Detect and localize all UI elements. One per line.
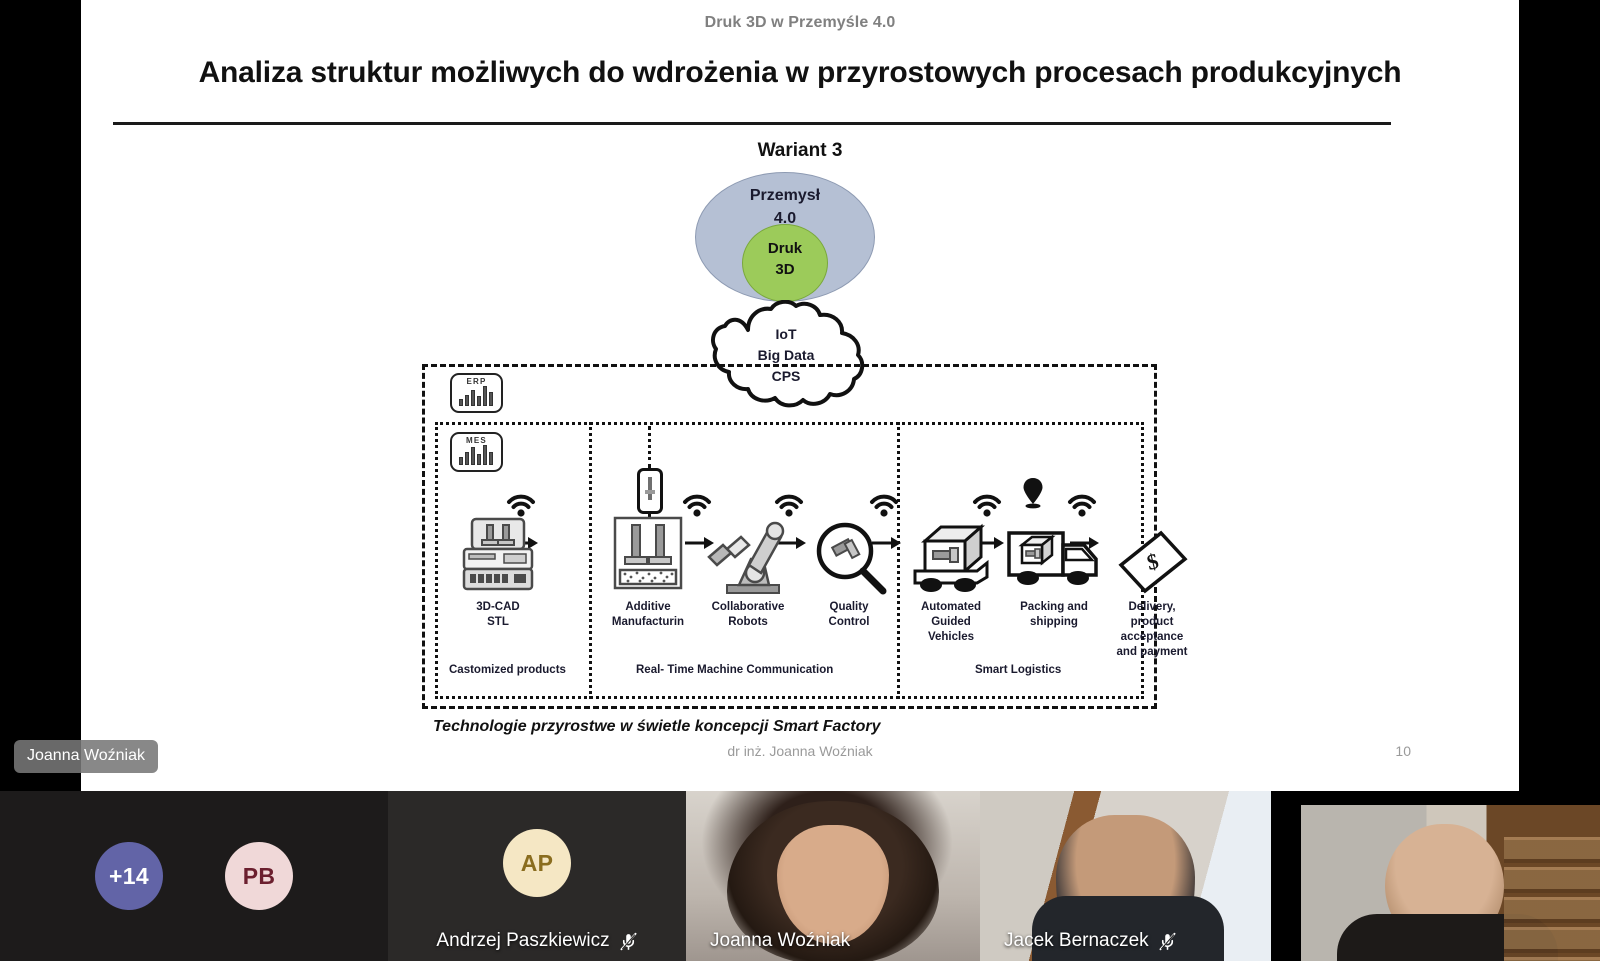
zone-label-customized: Castomized products xyxy=(449,664,566,676)
erp-label: ERP xyxy=(452,377,501,386)
title-divider xyxy=(113,122,1391,125)
participant-name: Andrzej Paszkiewicz xyxy=(436,930,609,952)
node-3d-cad: 3D-CAD STL xyxy=(444,509,552,630)
participant-tile-overflow[interactable]: +14 PB xyxy=(0,791,388,961)
agv-icon xyxy=(897,509,1005,595)
mic-muted-icon xyxy=(619,932,638,951)
node-packing-shipping: Packing and shipping xyxy=(1000,509,1108,630)
money-icon: $ xyxy=(1098,509,1206,595)
location-pin-icon xyxy=(1022,477,1044,509)
avatar-overflow-count[interactable]: +14 xyxy=(95,842,163,910)
avatar-initials: AP xyxy=(521,850,554,877)
bookshelf-background xyxy=(1504,833,1600,961)
participant-filmstrip: +14 PB AP Andrzej Paszkiewicz xyxy=(0,791,1600,961)
magnifier-icon xyxy=(795,509,903,595)
venn-diagram: Przemysł 4.0 Druk 3D xyxy=(695,172,875,302)
shared-content-stage: Druk 3D w Przemyśle 4.0 Analiza struktur… xyxy=(0,0,1600,791)
venn-outer-label: Przemysł 4.0 xyxy=(695,184,875,230)
node-label: Delivery, product acceptance and payment xyxy=(1098,600,1206,660)
node-label: Packing and shipping xyxy=(1000,600,1108,630)
participant-name-row: Andrzej Paszkiewicz xyxy=(388,930,686,952)
phone-uplink-dots xyxy=(648,426,651,468)
smart-factory-diagram: ERP MES xyxy=(422,364,1157,709)
erp-system-icon: ERP xyxy=(450,373,503,413)
node-quality-control: Quality Control xyxy=(795,509,903,630)
meeting-window: Druk 3D w Przemyśle 4.0 Analiza struktur… xyxy=(0,0,1600,961)
slide-header: Druk 3D w Przemyśle 4.0 xyxy=(81,14,1519,32)
node-additive: Additive Manufacturin xyxy=(594,509,702,630)
participant-name-row: Joanna Woźniak xyxy=(686,930,980,952)
participant-tile-andrzej-paszkiewicz[interactable]: AP Andrzej Paszkiewicz xyxy=(388,791,686,961)
presentation-slide[interactable]: Druk 3D w Przemyśle 4.0 Analiza struktur… xyxy=(81,0,1519,791)
avatar-initials: +14 xyxy=(109,863,149,890)
mes-system-icon: MES xyxy=(450,432,503,472)
participant-name-row: Jacek Bernaczek xyxy=(980,930,1271,952)
avatar-initials: PB xyxy=(243,863,276,890)
mic-muted-icon xyxy=(1158,932,1177,951)
mes-label: MES xyxy=(452,436,501,445)
node-delivery-payment: $ Delivery, product acceptance and payme… xyxy=(1098,509,1206,660)
zone-label-rtmc: Real- Time Machine Communication xyxy=(636,664,833,676)
mobile-phone-icon xyxy=(637,468,663,514)
avatar-pb[interactable]: PB xyxy=(225,842,293,910)
venn-inner-label: Druk 3D xyxy=(742,238,828,280)
zone-divider-1 xyxy=(589,422,592,699)
footer-author: dr inż. Joanna Woźniak xyxy=(81,743,1519,759)
node-agv: Automated Guided Vehicles xyxy=(897,509,1005,645)
variant-label: Wariant 3 xyxy=(81,140,1519,162)
zone-label-smart-logistics: Smart Logistics xyxy=(975,664,1061,676)
participant-name: Jacek Bernaczek xyxy=(1004,930,1149,952)
node-label: Additive Manufacturin xyxy=(594,600,702,630)
node-label: Collaborative Robots xyxy=(694,600,802,630)
robot-arm-icon xyxy=(694,509,802,595)
node-label: Automated Guided Vehicles xyxy=(897,600,1005,645)
page-title: Analiza struktur możliwych do wdrożenia … xyxy=(113,56,1487,90)
node-collaborative-robots: Collaborative Robots xyxy=(694,509,802,630)
additive-manufacturing-icon xyxy=(594,509,702,595)
node-label: 3D-CAD STL xyxy=(444,600,552,630)
slide-number: 10 xyxy=(1395,743,1411,759)
participant-tile-5[interactable] xyxy=(1271,791,1600,961)
3d-printer-desktop-icon xyxy=(444,509,552,595)
active-speaker-badge: Joanna Woźniak xyxy=(14,740,158,773)
participant-name: Joanna Woźniak xyxy=(710,930,850,952)
diagram-caption: Technologie przyrostwe w świetle koncepc… xyxy=(433,718,1133,736)
avatar: AP xyxy=(503,829,571,897)
delivery-truck-icon xyxy=(1000,509,1108,595)
participant-tile-joanna-wozniak[interactable]: Joanna Woźniak xyxy=(686,791,980,961)
participant-tile-jacek-bernaczek[interactable]: Jacek Bernaczek xyxy=(980,791,1271,961)
node-label: Quality Control xyxy=(795,600,903,630)
video-feed xyxy=(1301,805,1600,961)
